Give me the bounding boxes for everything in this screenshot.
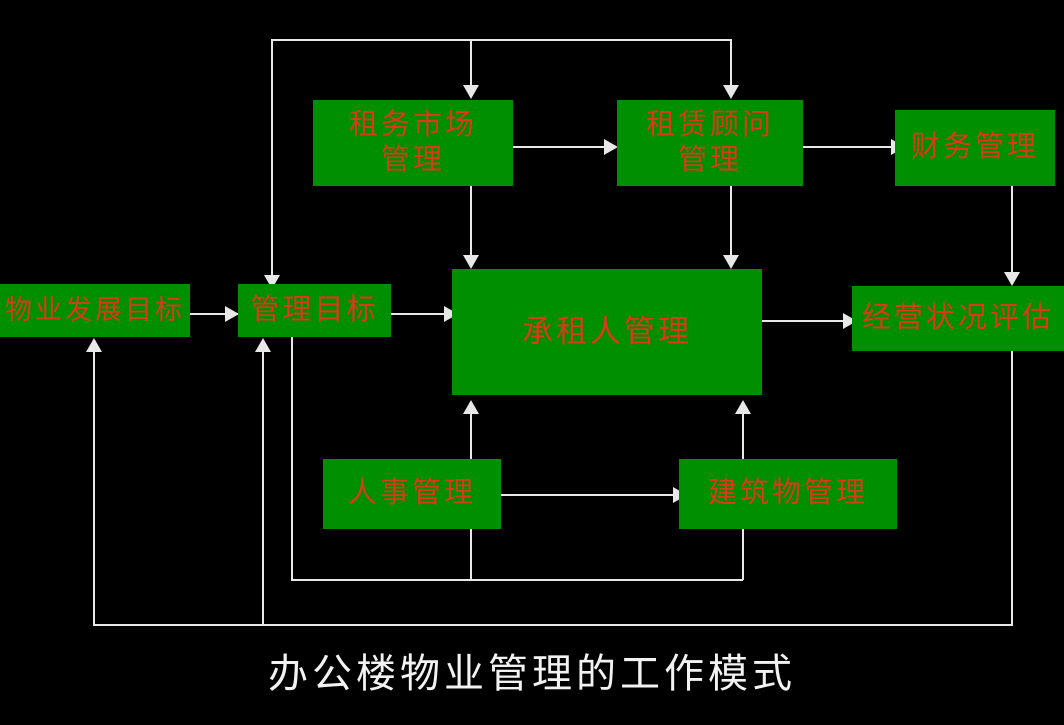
arrowhead-into-tenant-top-left xyxy=(463,255,479,269)
arrowhead-into-management-goal-bottom xyxy=(255,338,271,352)
node-finance[interactable]: 财务管理 xyxy=(895,110,1055,186)
arrowhead-into-tenant-bottom-right xyxy=(735,400,751,414)
arrowhead-into-property-dev-goal-bottom xyxy=(86,338,102,352)
diagram-title: 办公楼物业管理的工作模式 xyxy=(0,641,1064,699)
node-leasing-consultant[interactable]: 租赁顾问管理 xyxy=(617,100,803,186)
connector-mid-bus-to-building xyxy=(742,528,744,580)
connector-management-goal-down-riser xyxy=(291,337,293,580)
diagram-canvas: 租务市场管理 租赁顾问管理 财务管理 物业发展目标 管理目标 承租人管理 经营状… xyxy=(0,0,1064,725)
connector-leasing-consultant-to-finance xyxy=(803,146,895,148)
arrowhead-into-operation-review-top xyxy=(1004,272,1020,286)
connector-finance-to-operation-review xyxy=(1011,186,1013,279)
node-building-management-label: 建筑物管理 xyxy=(679,476,897,511)
connector-top-bus-to-leasing-consultant xyxy=(730,39,732,91)
connector-leasing-consultant-to-tenant xyxy=(730,186,732,262)
connector-bottom-bus-to-property-dev-goal xyxy=(93,342,95,625)
node-operation-review[interactable]: 经营状况评估 xyxy=(852,286,1064,351)
arrowhead-into-tenant-top-right xyxy=(723,255,739,269)
connector-bottom-bus xyxy=(93,624,1013,626)
arrowhead-into-leasing-consultant-left xyxy=(604,139,618,155)
node-rental-market[interactable]: 租务市场管理 xyxy=(313,100,513,186)
node-rental-market-label: 租务市场管理 xyxy=(313,108,513,179)
node-management-goal-label: 管理目标 xyxy=(238,293,391,328)
node-property-dev-goal-label: 物业发展目标 xyxy=(0,294,190,327)
connector-tenant-to-operation-review xyxy=(762,320,852,322)
arrowhead-into-rental-market-top xyxy=(463,85,479,99)
connector-top-bus xyxy=(271,39,732,41)
arrowhead-into-tenant-bottom-left xyxy=(463,400,479,414)
connector-rental-market-to-tenant xyxy=(470,186,472,262)
node-tenant-management-label: 承租人管理 xyxy=(452,313,762,351)
node-operation-review-label: 经营状况评估 xyxy=(852,301,1064,336)
connector-mid-bus-to-hr xyxy=(470,528,472,580)
arrowhead-into-leasing-consultant-top xyxy=(723,85,739,99)
node-management-goal[interactable]: 管理目标 xyxy=(238,284,391,337)
connector-hr-to-building xyxy=(501,494,681,496)
node-hr-management-label: 人事管理 xyxy=(323,476,501,511)
connector-top-bus-to-management-goal xyxy=(271,39,273,283)
connector-rental-market-to-leasing-consultant xyxy=(513,146,608,148)
arrowhead-into-management-goal-left xyxy=(225,306,239,322)
node-tenant-management[interactable]: 承租人管理 xyxy=(452,269,762,395)
connector-operation-review-down-riser xyxy=(1011,351,1013,626)
node-property-dev-goal[interactable]: 物业发展目标 xyxy=(0,284,190,337)
node-finance-label: 财务管理 xyxy=(895,130,1055,165)
node-building-management[interactable]: 建筑物管理 xyxy=(679,459,897,529)
node-leasing-consultant-label: 租赁顾问管理 xyxy=(617,108,803,179)
node-hr-management[interactable]: 人事管理 xyxy=(323,459,501,529)
connector-top-bus-to-rental-market xyxy=(470,39,472,91)
connector-bottom-bus-to-management-goal xyxy=(262,342,264,625)
connector-mid-bus xyxy=(291,579,743,581)
